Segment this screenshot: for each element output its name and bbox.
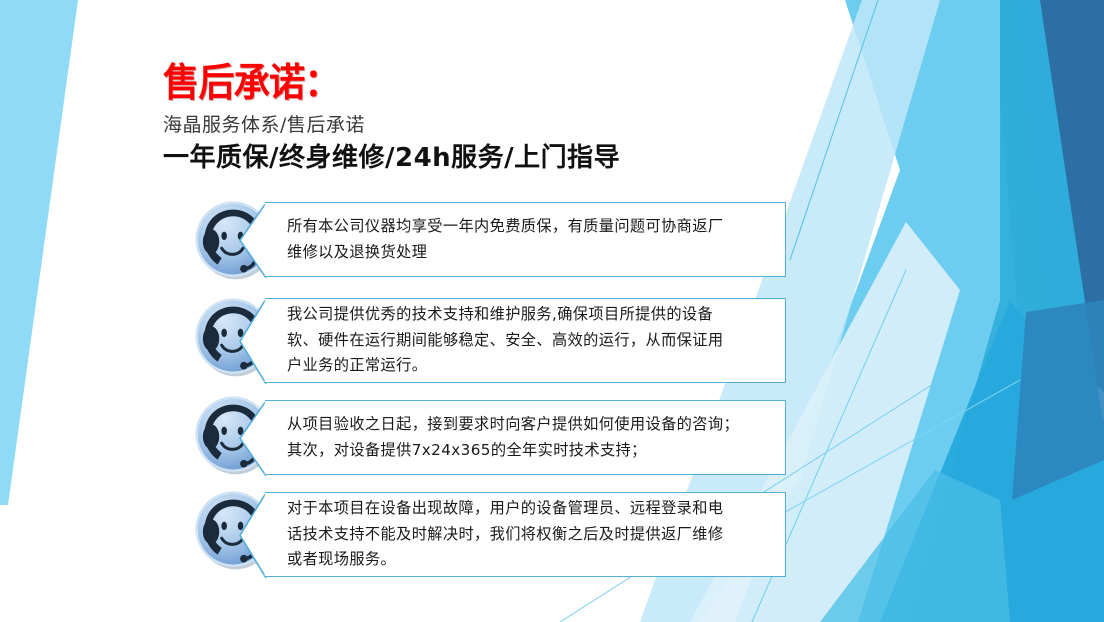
callout-box-onsite-service[interactable]: 对于本项目在设备出现故障，用户的设备管理员、远程登录和电话技术支持不能及时解决时… (265, 492, 786, 577)
callout-text-warranty: 所有本公司仪器均享受一年内免费质保，有质量问题可协商返厂维修以及退换货处理 (265, 214, 785, 265)
headset-earpiece-icon (203, 326, 219, 351)
callout-tail-shape (240, 299, 266, 384)
icon-eye-left (221, 232, 227, 241)
headset-earpiece-icon (203, 424, 219, 449)
callout-line: 对于本项目在设备出现故障，用户的设备管理员、远程登录和电 (287, 496, 771, 522)
callout-box-consultation[interactable]: 从项目验收之日起，接到要求时向客户提供如何使用设备的咨询；其次，对设备提供7x2… (265, 400, 786, 475)
callout-box-warranty[interactable]: 所有本公司仪器均享受一年内免费质保，有质量问题可协商返厂维修以及退换货处理 (265, 202, 786, 277)
callout-tail (239, 400, 267, 477)
callout-line: 话技术支持不能及时解决时，我们将权衡之后及时提供返厂维修 (287, 522, 771, 548)
callout-line: 我公司提供优秀的技术支持和维护服务,确保项目所提供的设备 (287, 302, 771, 328)
callout-line: 其次，对设备提供7x24x365的全年实时技术支持； (287, 438, 771, 464)
commitment-list: 所有本公司仪器均享受一年内免费质保，有质量问题可协商返厂维修以及退换货处理 (0, 0, 1104, 622)
callout-text-technical-support: 我公司提供优秀的技术支持和维护服务,确保项目所提供的设备软、硬件在运行期间能够稳… (265, 302, 785, 379)
slide-canvas: 售后承诺： 海晶服务体系/售后承诺 一年质保/终身维修/24h服务/上门指导 (0, 0, 1104, 622)
callout-text-consultation: 从项目验收之日起，接到要求时向客户提供如何使用设备的咨询；其次，对设备提供7x2… (265, 412, 785, 463)
callout-line: 所有本公司仪器均享受一年内免费质保，有质量问题可协商返厂 (287, 214, 771, 240)
callout-line: 或者现场服务。 (287, 547, 771, 573)
callout-tail-shape (240, 401, 266, 476)
callout-line: 户业务的正常运行。 (287, 353, 771, 379)
callout-line: 从项目验收之日起，接到要求时向客户提供如何使用设备的咨询； (287, 412, 771, 438)
callout-text-onsite-service: 对于本项目在设备出现故障，用户的设备管理员、远程登录和电话技术支持不能及时解决时… (265, 496, 785, 573)
icon-eye-left (221, 522, 227, 531)
icon-eye-left (221, 329, 227, 338)
callout-box-technical-support[interactable]: 我公司提供优秀的技术支持和维护服务,确保项目所提供的设备软、硬件在运行期间能够稳… (265, 298, 786, 383)
icon-eye-left (221, 427, 227, 436)
callout-tail (239, 202, 267, 279)
callout-line: 维修以及退换货处理 (287, 240, 771, 266)
callout-tail (239, 298, 267, 385)
headset-earpiece-icon (203, 519, 219, 544)
headset-earpiece-icon (203, 229, 219, 254)
callout-tail (239, 492, 267, 579)
callout-tail-shape (240, 203, 266, 278)
callout-tail-shape (240, 493, 266, 578)
callout-line: 软、硬件在运行期间能够稳定、安全、高效的运行，从而保证用 (287, 328, 771, 354)
